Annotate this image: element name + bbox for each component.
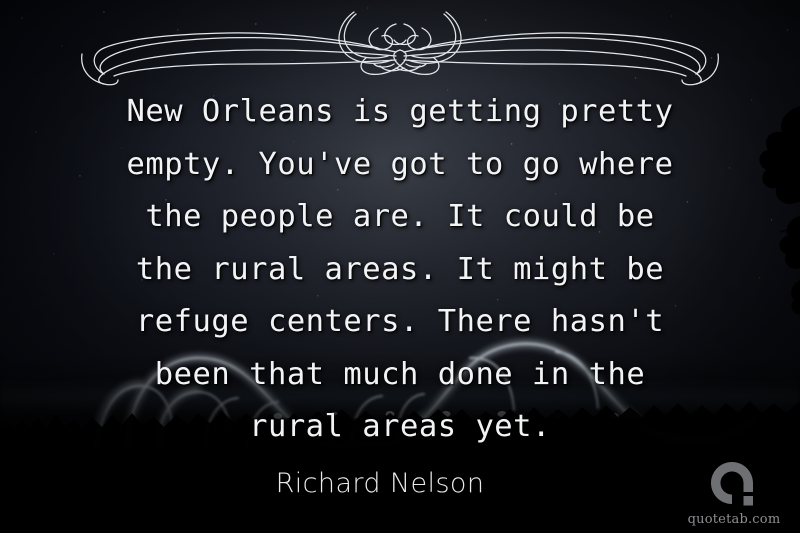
quote-line: the rural areas. It might be <box>40 244 760 297</box>
quote-line: New Orleans is getting pretty <box>40 86 760 139</box>
quotetab-q-logo-icon <box>708 460 760 512</box>
author-attribution: Richard Nelson <box>0 468 800 499</box>
quote-line: the people are. It could be <box>40 191 760 244</box>
quote-text-block: New Orleans is getting pretty empty. You… <box>40 86 760 454</box>
quote-line: empty. You've got to go where <box>40 139 760 192</box>
quote-line: been that much done in the <box>40 349 760 402</box>
author-name: Richard Nelson <box>276 468 485 499</box>
watermark-site-text: quotetab.com <box>682 513 786 527</box>
quote-line: rural areas yet. <box>40 401 760 454</box>
quote-line: refuge centers. There hasn't <box>40 296 760 349</box>
flourish-divider <box>78 6 722 86</box>
quote-image-card: New Orleans is getting pretty empty. You… <box>0 0 800 533</box>
watermark[interactable]: quotetab.com <box>682 460 786 527</box>
